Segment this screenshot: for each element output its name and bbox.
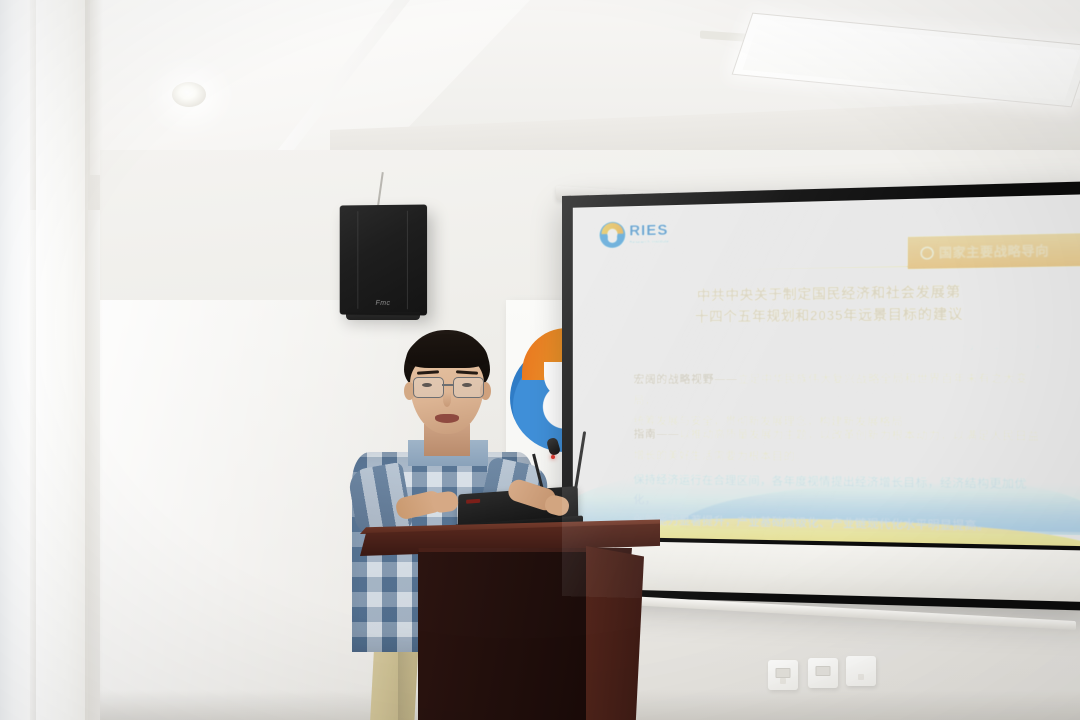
recessed-downlight-icon	[172, 82, 206, 107]
microphone-led-icon	[551, 455, 555, 459]
slide-section-tag: 国家主要战略导向	[908, 233, 1080, 269]
slide-title-line-2: 十四个五年规划和2035年远景目标的建议	[670, 304, 989, 329]
network-port-icon	[816, 666, 831, 676]
slide-logo-text: RIES Research Institute	[629, 222, 669, 245]
presentation-room-photo: Fmc RIES Research Institute	[0, 0, 1080, 720]
wall-plate-blank	[846, 656, 876, 686]
slide-block-2-line-1: 以推动高质量发展为主题，以改革创新为根本动力，以满足人民日益增长的美好生活需要为…	[633, 429, 1040, 463]
slide-section-tag-label: 国家主要战略导向	[939, 241, 1049, 261]
laptop-brand-logo-icon	[466, 499, 480, 504]
wall-mounted-loudspeaker: Fmc	[340, 205, 427, 316]
presenter-glasses-bridge	[442, 384, 453, 386]
lectern-front-panel: RIES	[418, 552, 586, 720]
left-window-wall	[0, 0, 30, 720]
projection-screen-apron	[573, 540, 1080, 602]
slide-block-3-line-1: 保持经济运行在合理区间，各年度视情提出经济增长目标，经济结构更加优化，	[633, 469, 1046, 517]
circle-dot-icon	[920, 246, 933, 259]
speaker-grille-seam	[407, 211, 408, 310]
slide-logo-mark-icon	[599, 221, 625, 248]
presenter-mouth	[435, 414, 459, 423]
presenter-glasses-left-lens	[413, 377, 444, 398]
slide-ries-logo: RIES Research Institute	[599, 220, 669, 248]
socket-port-icon	[776, 668, 791, 678]
wall-plate-network-port	[808, 658, 838, 688]
blank-plate-mark-icon	[858, 674, 864, 680]
speaker-bracket	[346, 312, 420, 320]
presenter-nose	[443, 392, 451, 407]
slide-body-block-2: 指南——以推动高质量发展为主题，以改革创新为根本动力，以满足人民日益增长的美好生…	[633, 425, 1046, 470]
slide-logo-subtitle: Research Institute	[629, 240, 669, 245]
slide-block-2-lead: 指南——	[633, 429, 679, 441]
slide-logo-abbr: RIES	[629, 222, 669, 238]
slide-faint-note: 2020年10月29日 中国共产党第十九届五中全会通过	[867, 342, 1050, 354]
wall-plate-power-socket	[768, 660, 798, 690]
left-window-edge	[27, 0, 36, 720]
slide-title: 中共中央关于制定国民经济和社会发展第 十四个五年规划和2035年远景目标的建议	[670, 282, 989, 329]
slide-block-1-lead: 宏阔的战略视野——	[633, 374, 737, 386]
left-wall-return	[36, 0, 88, 720]
lectern-right-side	[586, 546, 644, 720]
speaker-brand-label: Fmc	[376, 300, 391, 307]
left-wall-shadow	[85, 0, 103, 720]
presentation-slide: RIES Research Institute 国家主要战略导向 中共中央关于制…	[573, 194, 1080, 546]
presenter-glasses-right-lens	[453, 377, 484, 398]
speaker-grille-seam	[357, 211, 358, 309]
projection-screen-surface: RIES Research Institute 国家主要战略导向 中共中央关于制…	[573, 194, 1080, 546]
slide-body-block-3: 保持经济运行在合理区间，各年度视情提出经济增长目标，经济结构更加优化， 创新能力…	[633, 469, 1046, 538]
socket-port-secondary-icon	[780, 678, 786, 684]
